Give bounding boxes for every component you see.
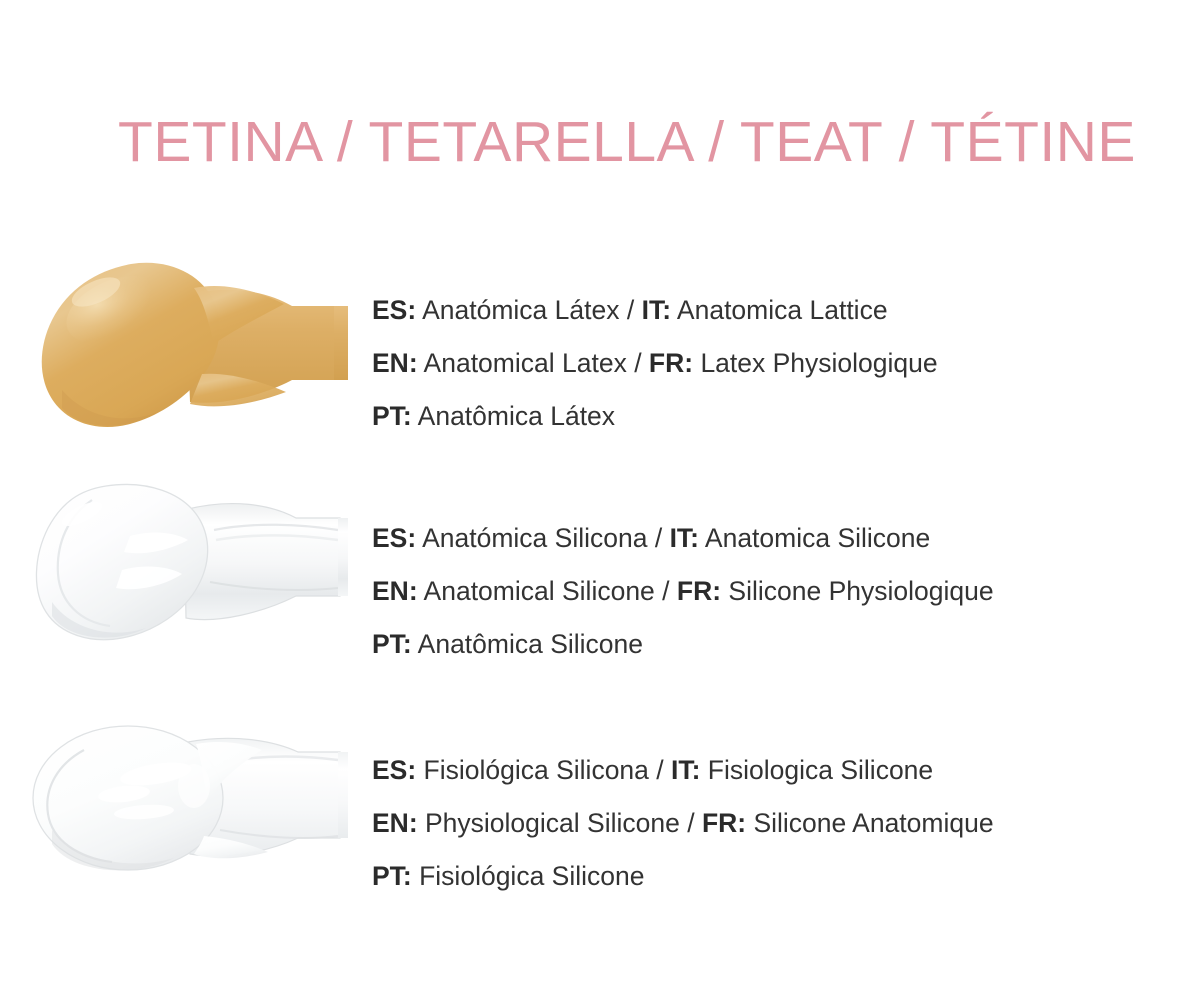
teat-name-it: Anatomica Lattice [671,295,888,325]
anatomical-latex-teat-image [18,248,348,448]
lang-label-it: IT: [671,755,700,785]
teat-line-es: ES: Anatómica Silicona / IT: Anatomica S… [372,512,1182,565]
teat-name-en: Anatomical Latex [418,348,627,378]
separator: / [619,295,641,325]
lang-label-es: ES: [372,295,416,325]
lang-label-en: EN: [372,808,418,838]
lang-label-pt: PT: [372,401,412,431]
teat-line-en: EN: Anatomical Latex / FR: Latex Physiol… [372,337,1182,390]
teat-description: ES: Fisiológica Silicona / IT: Fisiologi… [372,712,1182,903]
teat-name-es: Anatómica Silicona [416,523,647,553]
lang-label-fr: FR: [702,808,746,838]
teat-name-it: Anatomica Silicone [699,523,930,553]
teat-line-es: ES: Fisiológica Silicona / IT: Fisiologi… [372,744,1182,797]
anatomical-silicone-teat-image [18,478,348,663]
teat-name-it: Fisiologica Silicone [700,755,933,785]
teat-line-es: ES: Anatómica Látex / IT: Anatomica Latt… [372,284,1182,337]
teat-line-pt: PT: Anatômica Látex [372,390,1182,443]
teat-line-pt: PT: Fisiológica Silicone [372,850,1182,903]
lang-label-it: IT: [670,523,699,553]
teat-line-en: EN: Physiological Silicone / FR: Silicon… [372,797,1182,850]
teat-name-es: Fisiológica Silicona [416,755,649,785]
lang-label-en: EN: [372,576,418,606]
teat-line-en: EN: Anatomical Silicone / FR: Silicone P… [372,565,1182,618]
physiological-silicone-teat-image [18,712,348,892]
teat-name-pt: Anatômica Silicone [412,629,643,659]
teat-name-en: Physiological Silicone [418,808,680,838]
teat-name-en: Anatomical Silicone [418,576,655,606]
lang-label-en: EN: [372,348,418,378]
separator: / [647,523,669,553]
separator: / [655,576,677,606]
teat-row: ES: Fisiológica Silicona / IT: Fisiologi… [0,712,1200,892]
teat-description: ES: Anatómica Silicona / IT: Anatomica S… [372,478,1182,671]
separator: / [649,755,671,785]
lang-label-pt: PT: [372,861,412,891]
teat-name-pt: Anatômica Látex [412,401,615,431]
teat-row: ES: Anatómica Silicona / IT: Anatomica S… [0,478,1200,663]
teat-name-fr: Latex Physiologique [693,348,938,378]
page-title: TETINA / TETARELLA / TEAT / TÉTINE [118,114,1136,171]
teat-name-es: Anatómica Látex [416,295,619,325]
separator: / [627,348,649,378]
teat-description: ES: Anatómica Látex / IT: Anatomica Latt… [372,248,1182,443]
lang-label-fr: FR: [677,576,721,606]
lang-label-it: IT: [642,295,671,325]
teat-name-fr: Silicone Anatomique [746,808,994,838]
lang-label-es: ES: [372,755,416,785]
teat-line-pt: PT: Anatômica Silicone [372,618,1182,671]
lang-label-es: ES: [372,523,416,553]
teat-name-fr: Silicone Physiologique [721,576,994,606]
lang-label-pt: PT: [372,629,412,659]
separator: / [680,808,702,838]
teat-row: ES: Anatómica Látex / IT: Anatomica Latt… [0,248,1200,448]
lang-label-fr: FR: [649,348,693,378]
teat-name-pt: Fisiológica Silicone [412,861,645,891]
